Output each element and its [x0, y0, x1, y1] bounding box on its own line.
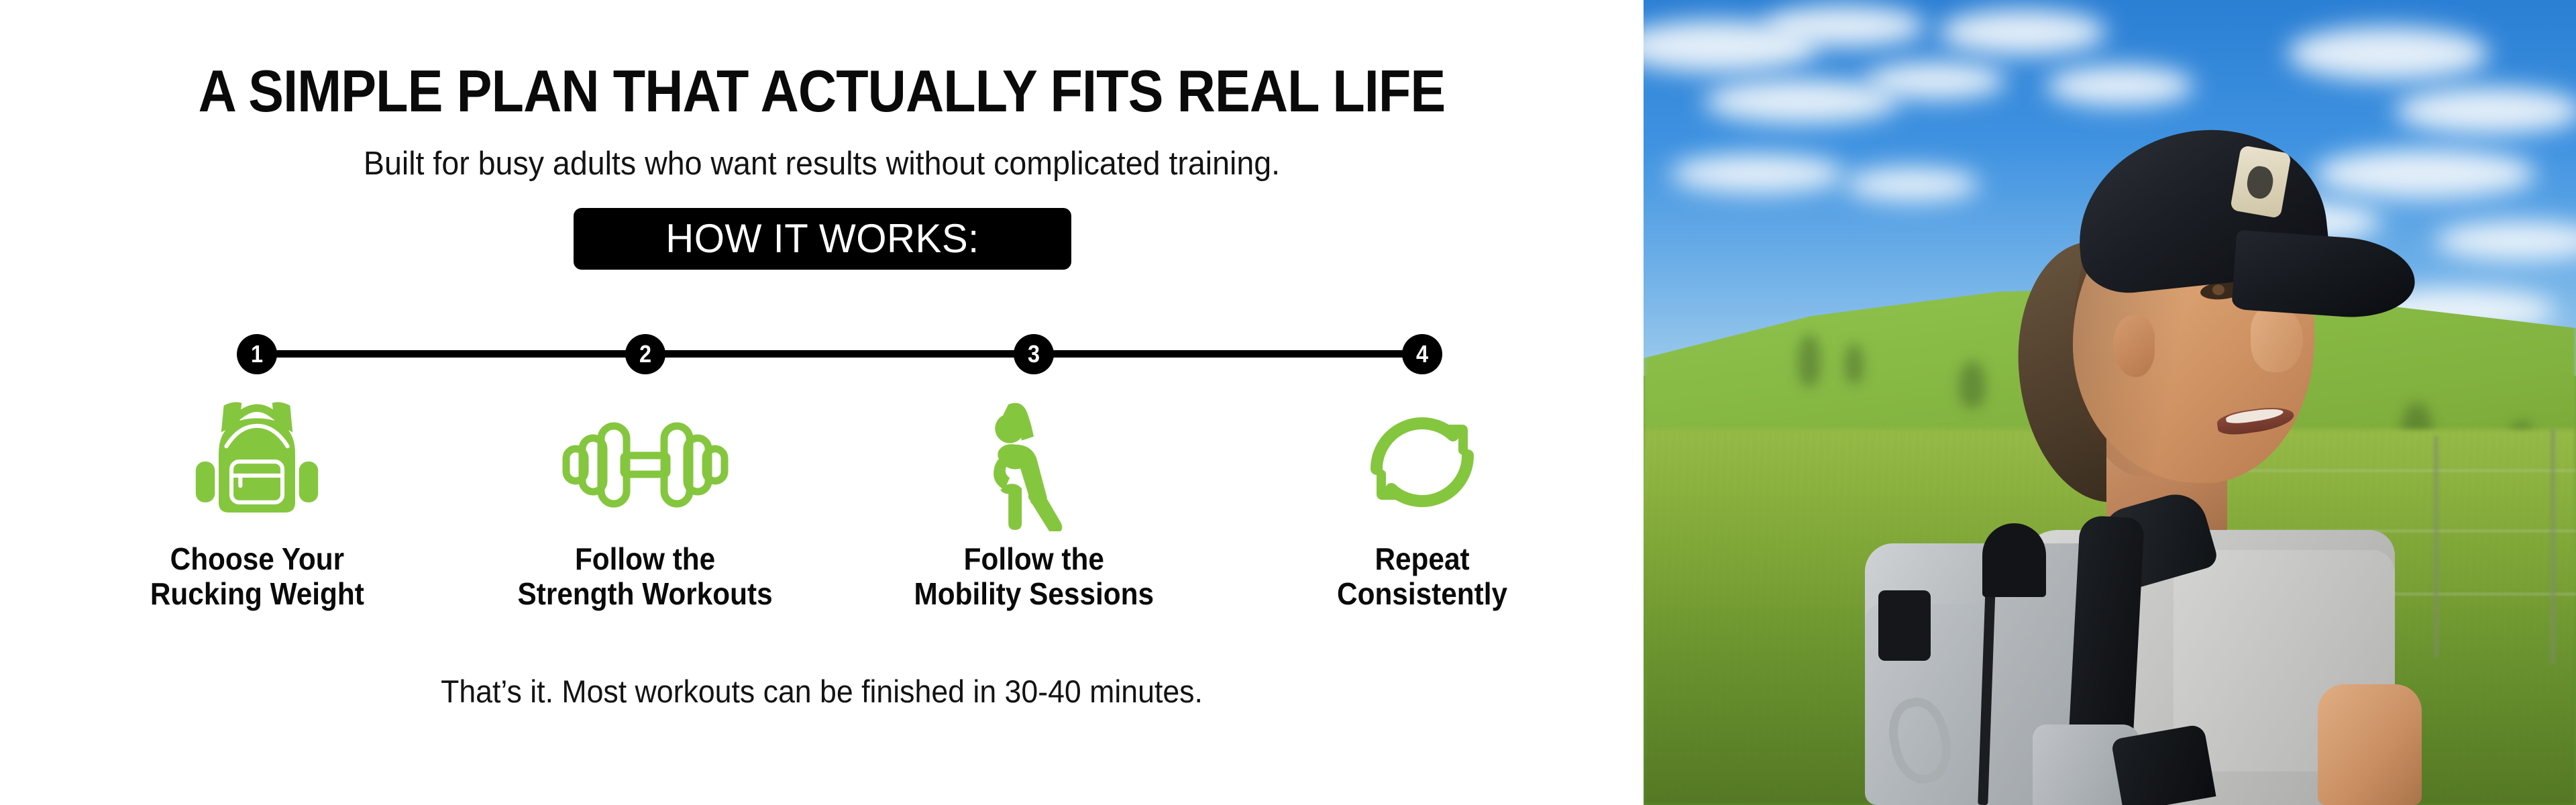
step-node-2: 2 [625, 334, 665, 374]
cloud-shape [1845, 168, 1979, 201]
cloud-shape [1865, 62, 2006, 99]
stretching-person-icon [980, 392, 1087, 533]
backpack-icon [193, 392, 321, 533]
step-item-3: Follow the Mobility Sessions [839, 392, 1228, 611]
step-node-1: 1 [237, 334, 277, 374]
backpack-grab-handle [1982, 523, 2046, 597]
distant-tree [1845, 343, 1864, 384]
step-item-1: Choose Your Rucking Weight [62, 392, 451, 611]
content-panel: A SIMPLE PLAN THAT ACTUALLY FITS REAL LI… [0, 0, 1644, 805]
steps-row: Choose Your Rucking Weight [0, 392, 1644, 647]
promo-graphic-root: A SIMPLE PLAN THAT ACTUALLY FITS REAL LI… [0, 0, 2576, 805]
subject-eye-highlight [2212, 284, 2224, 295]
step-node-3: 3 [1014, 334, 1054, 374]
step-item-2: Follow the Strength Workouts [451, 392, 840, 611]
cloud-shape [1764, 5, 1925, 47]
cloud-shape [2046, 66, 2194, 106]
footnote-text: That’s it. Most workouts can be finished… [41, 674, 1603, 709]
step-label-3: Follow the Mobility Sessions [914, 542, 1153, 611]
step-label-2: Follow the Strength Workouts [518, 542, 773, 611]
step-number-2: 2 [639, 342, 651, 366]
fence-post [2434, 436, 2438, 657]
cloud-shape [2314, 149, 2536, 199]
step-number-1: 1 [251, 342, 263, 366]
page-subtitle: Built for busy adults who want results w… [41, 146, 1603, 182]
step-label-1: Choose Your Rucking Weight [150, 542, 364, 611]
dumbbell-icon [562, 392, 729, 533]
page-title: A SIMPLE PLAN THAT ACTUALLY FITS REAL LI… [83, 62, 1562, 121]
cloud-shape [1670, 154, 1845, 193]
backpack-tab [1878, 590, 1931, 661]
how-it-works-badge: HOW IT WORKS: [574, 208, 1071, 270]
distant-tree [1798, 334, 1821, 386]
subject-arm [2318, 684, 2422, 805]
step-label-4: Repeat Consistently [1337, 542, 1507, 611]
distant-tree [1959, 361, 1986, 408]
subject-ear [2113, 315, 2155, 377]
cloud-shape [2395, 87, 2576, 134]
steps-timeline: 1 2 3 4 [0, 334, 1644, 374]
fence-post [2551, 429, 2555, 664]
cloud-shape [1939, 9, 2106, 55]
step-item-4: Repeat Consistently [1228, 392, 1617, 611]
hero-photo [1644, 0, 2576, 805]
subject-nose [2251, 305, 2303, 372]
step-number-4: 4 [1416, 342, 1428, 366]
repeat-cycle-icon [1362, 392, 1483, 533]
step-node-4: 4 [1402, 334, 1442, 374]
cloud-shape [2288, 27, 2489, 80]
step-number-3: 3 [1028, 342, 1040, 366]
how-it-works-badge-label: HOW IT WORKS: [665, 219, 979, 259]
timeline-track-line [257, 350, 1422, 358]
